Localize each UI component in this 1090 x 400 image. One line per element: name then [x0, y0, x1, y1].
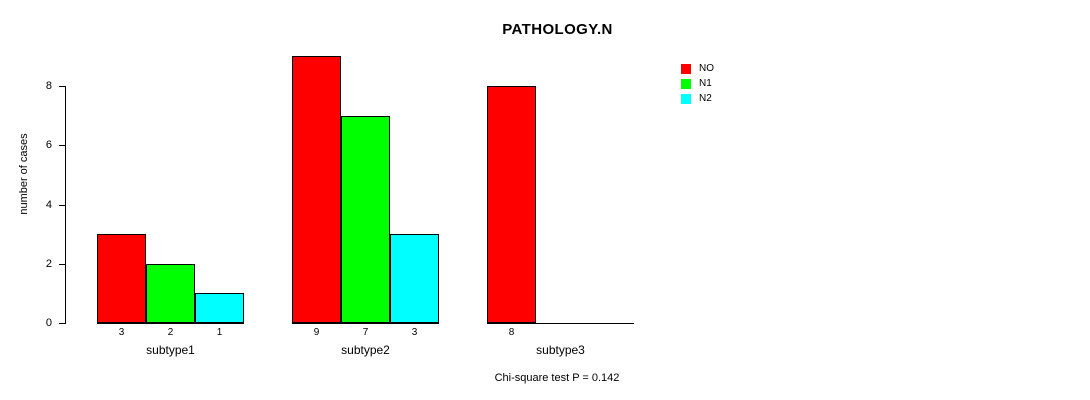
chart-footnote: Chi-square test P = 0.142 — [402, 372, 712, 385]
y-axis-tick — [59, 323, 66, 324]
y-axis-tick — [59, 264, 66, 265]
bar-subtype1-N1 — [146, 264, 195, 323]
chart-canvas: PATHOLOGY.N 02468 number of cases 321sub… — [0, 0, 1090, 400]
chart-legend: NON1N2 — [680, 61, 714, 106]
bar-subtype2-N1 — [341, 116, 390, 323]
y-axis-tick — [59, 145, 66, 146]
group-baseline — [292, 323, 439, 324]
legend-swatch-icon — [680, 63, 692, 75]
bar-value-label: 3 — [97, 327, 146, 338]
legend-item-label: N2 — [699, 93, 712, 104]
plot-area: 02468 number of cases 321subtype1973subt… — [0, 0, 700, 400]
y-axis-tick-label: 2 — [0, 259, 52, 270]
legend-swatch-icon — [680, 93, 692, 105]
bar-value-label: 7 — [341, 327, 390, 338]
legend-swatch-icon — [680, 78, 692, 90]
y-axis-tick-label: 0 — [0, 318, 52, 329]
bar-subtype2-NO — [292, 56, 341, 323]
legend-item-N2: N2 — [680, 91, 714, 106]
legend-item-NO: NO — [680, 61, 714, 76]
y-axis-tick — [59, 205, 66, 206]
group-label-subtype1: subtype1 — [97, 343, 244, 357]
legend-item-label: NO — [699, 63, 714, 74]
group-label-subtype2: subtype2 — [292, 343, 439, 357]
legend-item-N1: N1 — [680, 76, 714, 91]
legend-item-label: N1 — [699, 78, 712, 89]
bar-subtype1-N2 — [195, 293, 244, 323]
group-baseline — [487, 323, 634, 324]
bar-value-label: 2 — [146, 327, 195, 338]
bar-value-label: 3 — [390, 327, 439, 338]
group-label-subtype3: subtype3 — [487, 343, 634, 357]
y-axis-label: number of cases — [18, 94, 30, 254]
bar-subtype2-N2 — [390, 234, 439, 323]
bar-value-label: 1 — [195, 327, 244, 338]
group-baseline — [97, 323, 244, 324]
y-axis-tick-label: 8 — [0, 81, 52, 92]
y-axis-tick — [59, 86, 66, 87]
bar-subtype1-NO — [97, 234, 146, 323]
bar-value-label: 8 — [487, 327, 536, 338]
bar-subtype3-NO — [487, 86, 536, 323]
bar-value-label: 9 — [292, 327, 341, 338]
